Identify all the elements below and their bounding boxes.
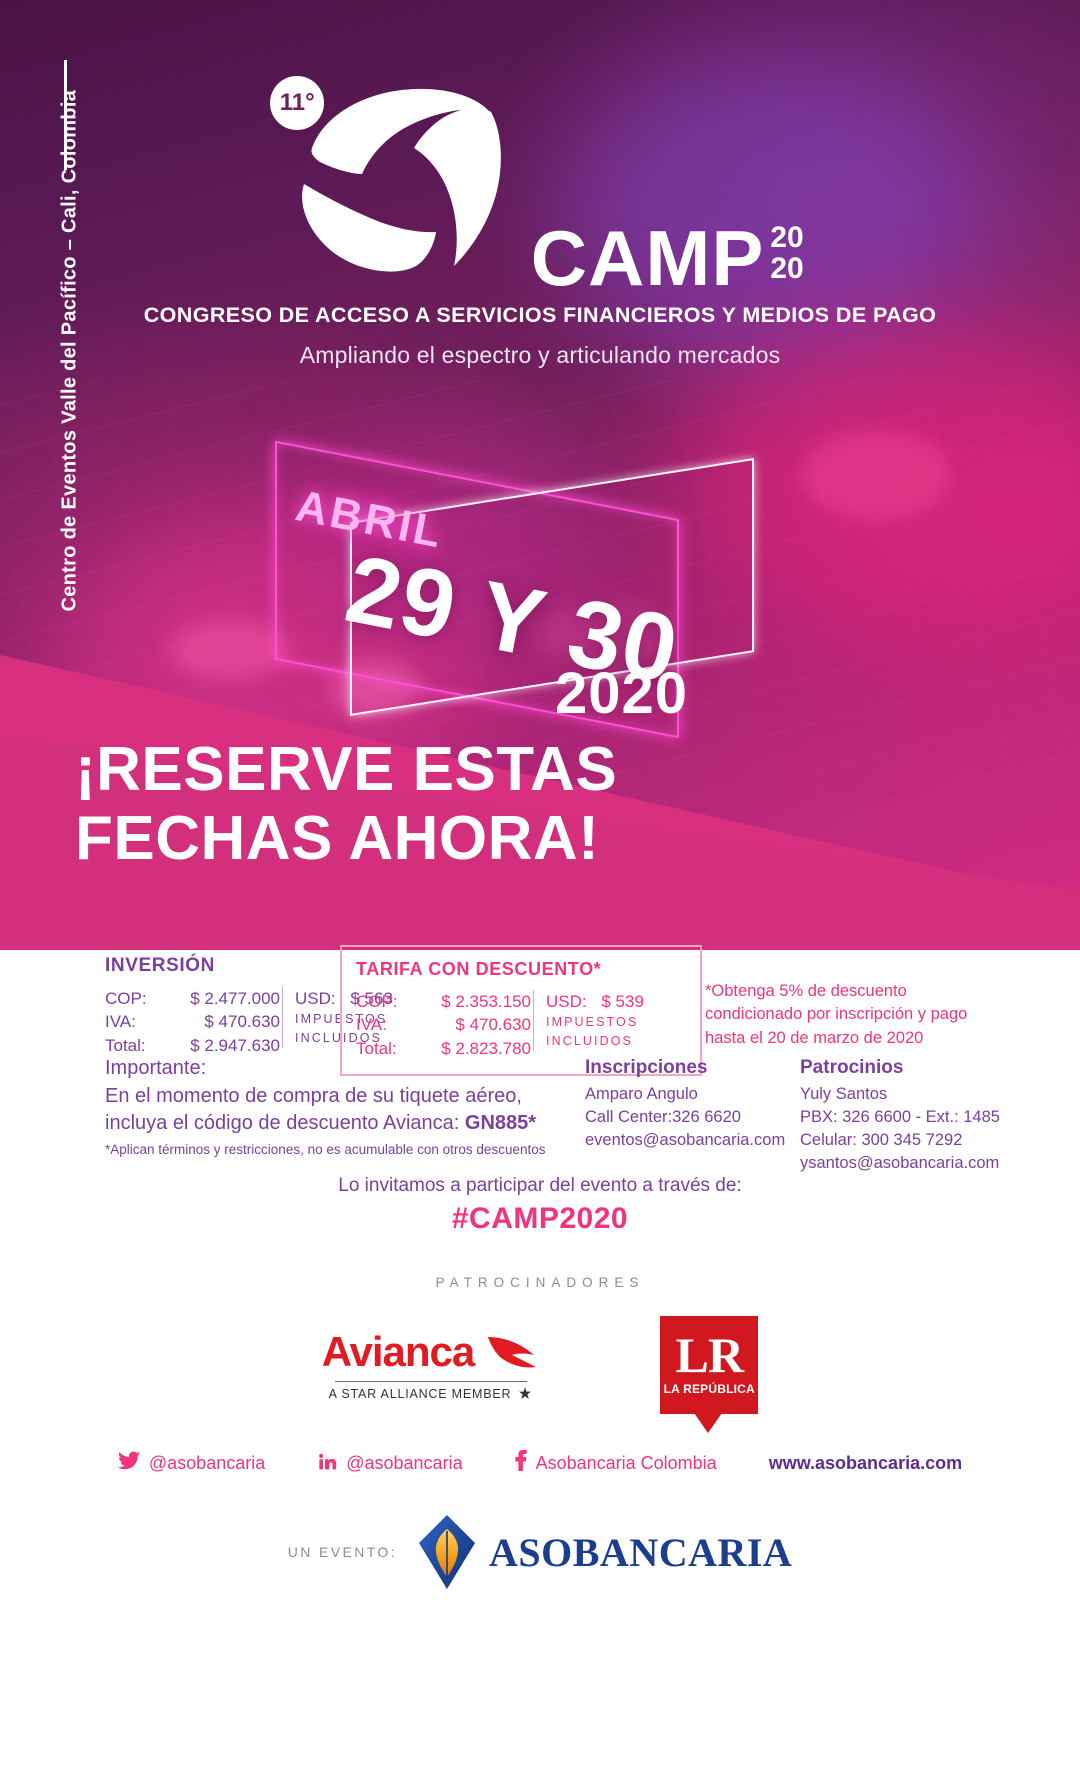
contact-email[interactable]: eventos@asobancaria.com: [585, 1129, 785, 1152]
organizer-row: UN EVENTO: ASOBANCARIA: [0, 1515, 1080, 1589]
discount-note: *Obtenga 5% de descuento condicionado po…: [705, 980, 975, 1050]
taxes-line-2: INCLUIDOS: [546, 1032, 644, 1051]
camp-year: 20 20: [770, 223, 803, 284]
camp-year-top: 20: [770, 223, 803, 254]
twitter-handle: @asobancaria: [149, 1453, 265, 1474]
usd-label: USD:: [295, 989, 336, 1008]
important-fineprint: *Aplican términos y restricciones, no es…: [105, 1141, 575, 1159]
asobancaria-logo: ASOBANCARIA: [419, 1515, 792, 1589]
price-value: $ 470.630: [455, 1013, 531, 1036]
facebook-handle: Asobancaria Colombia: [536, 1453, 717, 1474]
price-value: $ 470.630: [204, 1010, 280, 1033]
price-label: COP:: [105, 987, 157, 1010]
event-year: 2020: [555, 660, 688, 727]
linkedin-icon: [317, 1451, 337, 1477]
event-hashtag[interactable]: #CAMP2020: [0, 1202, 1080, 1236]
discount-title: TARIFA CON DESCUENTO*: [356, 959, 686, 980]
contact-email[interactable]: ysantos@asobancaria.com: [800, 1152, 1000, 1175]
price-label: COP:: [356, 990, 408, 1013]
price-value: $ 2.353.150: [441, 990, 531, 1013]
discount-usd: USD: $ 539 IMPUESTOS INCLUIDOS: [533, 990, 644, 1051]
asobancaria-name: ASOBANCARIA: [489, 1529, 792, 1576]
camp-year-bottom: 20: [770, 254, 803, 285]
contact-name: Yuly Santos: [800, 1083, 1000, 1106]
la-republica-logo: LR LA REPÚBLICA: [660, 1316, 758, 1414]
discount-note-line-3: hasta el 20 de marzo de 2020: [705, 1027, 975, 1050]
linkedin-handle: @asobancaria: [346, 1453, 462, 1474]
social-facebook[interactable]: Asobancaria Colombia: [515, 1450, 717, 1477]
event-subtitle: CONGRESO DE ACCESO A SERVICIOS FINANCIER…: [0, 303, 1080, 328]
date-block: ABRIL 29 Y 30 2020: [255, 470, 815, 730]
star-alliance-icon: [517, 1386, 533, 1402]
camp-symbol-icon: 11°: [276, 70, 526, 285]
important-block: Importante: En el momento de compra de s…: [105, 1055, 575, 1158]
edition-badge: 11°: [270, 76, 324, 130]
avianca-mark-row: Avianca: [322, 1328, 541, 1376]
camp-text: CAMP: [531, 221, 765, 295]
avianca-bird-icon: [484, 1331, 540, 1373]
price-label: Total:: [105, 1034, 156, 1057]
important-line-2: incluya el código de descuento Avianca: …: [105, 1110, 575, 1138]
price-row: IVA: $ 470.630: [356, 1013, 531, 1036]
twitter-icon: [118, 1451, 140, 1476]
la-republica-name: LA REPÚBLICA: [660, 1382, 758, 1396]
price-label: IVA:: [356, 1013, 397, 1036]
camp-wordmark: CAMP 20 20: [531, 215, 804, 295]
avianca-discount-code: GN885*: [465, 1112, 536, 1134]
bokeh-decoration: [800, 430, 950, 520]
headline-line-1: ¡RESERVE ESTAS: [75, 735, 617, 804]
important-line-2-prefix: incluya el código de descuento Avianca:: [105, 1112, 465, 1134]
price-value: $ 2.947.630: [190, 1034, 280, 1057]
avianca-divider: [335, 1381, 527, 1383]
price-value: $ 2.477.000: [190, 987, 280, 1010]
contact-title: Patrocinios: [800, 1055, 1000, 1081]
discount-note-line-1: *Obtenga 5% de descuento: [705, 980, 975, 1003]
social-bar: @asobancaria @asobancaria Asobancaria Co…: [0, 1450, 1080, 1477]
headline: ¡RESERVE ESTAS FECHAS AHORA!: [75, 735, 617, 874]
contact-phone: Call Center:326 6620: [585, 1106, 785, 1129]
usd-value: $ 539: [601, 992, 644, 1011]
organizer-label: UN EVENTO:: [288, 1544, 397, 1560]
price-row: IVA: $ 470.630: [105, 1010, 280, 1033]
asobancaria-diamond-icon: [419, 1515, 475, 1589]
important-title: Importante:: [105, 1055, 575, 1083]
info-section: INVERSIÓN COP: $ 2.477.000 IVA: $ 470.63…: [0, 950, 1080, 1790]
discount-price-grid: COP: $ 2.353.150 IVA: $ 470.630 Total: $…: [356, 990, 686, 1060]
brand-logo: 11° CAMP 20 20 CONGRESO DE ACCESO A SERV…: [0, 70, 1080, 369]
discount-note-line-2: condicionado por inscripción y pago: [705, 1003, 975, 1026]
invite-text: Lo invitamos a participar del evento a t…: [0, 1175, 1080, 1197]
sponsors-row: Avianca A STAR ALLIANCE MEMBER LR LA REP…: [0, 1305, 1080, 1425]
usd-row: USD: $ 539: [546, 990, 644, 1013]
usd-label: USD:: [546, 992, 587, 1011]
important-line-1: En el momento de compra de su tiquete aé…: [105, 1083, 575, 1111]
contact-title: Inscripciones: [585, 1055, 785, 1081]
price-row: COP: $ 2.353.150: [356, 990, 531, 1013]
event-tagline: Ampliando el espectro y articulando merc…: [0, 342, 1080, 369]
hero-section: Centro de Eventos Valle del Pacífico – C…: [0, 0, 1080, 950]
social-linkedin[interactable]: @asobancaria: [317, 1451, 462, 1477]
contact-name: Amparo Angulo: [585, 1083, 785, 1106]
website-link[interactable]: www.asobancaria.com: [769, 1453, 962, 1474]
la-republica-mark: LR: [660, 1316, 758, 1380]
contact-patrocinios: Patrocinios Yuly Santos PBX: 326 6600 - …: [800, 1055, 1000, 1174]
facebook-icon: [515, 1450, 527, 1477]
contact-phone: PBX: 326 6600 - Ext.: 1485: [800, 1106, 1000, 1129]
star-alliance-row: A STAR ALLIANCE MEMBER: [322, 1386, 541, 1402]
event-poster: Centro de Eventos Valle del Pacífico – C…: [0, 0, 1080, 1790]
contact-inscripciones: Inscripciones Amparo Angulo Call Center:…: [585, 1055, 785, 1152]
star-alliance-text: A STAR ALLIANCE MEMBER: [329, 1387, 512, 1401]
discount-prices: COP: $ 2.353.150 IVA: $ 470.630 Total: $…: [356, 990, 531, 1060]
contact-mobile: Celular: 300 345 7292: [800, 1129, 1000, 1152]
price-label: IVA:: [105, 1010, 146, 1033]
taxes-line-1: IMPUESTOS: [546, 1013, 644, 1032]
investment-prices: COP: $ 2.477.000 IVA: $ 470.630 Total: $…: [105, 987, 280, 1057]
price-row: COP: $ 2.477.000: [105, 987, 280, 1010]
avianca-logo: Avianca A STAR ALLIANCE MEMBER: [322, 1328, 541, 1403]
price-row: Total: $ 2.947.630: [105, 1034, 280, 1057]
social-twitter[interactable]: @asobancaria: [118, 1451, 265, 1476]
avianca-name: Avianca: [322, 1328, 475, 1376]
sponsors-label: PATROCINADORES: [0, 1275, 1080, 1290]
headline-line-2: FECHAS AHORA!: [75, 804, 617, 873]
